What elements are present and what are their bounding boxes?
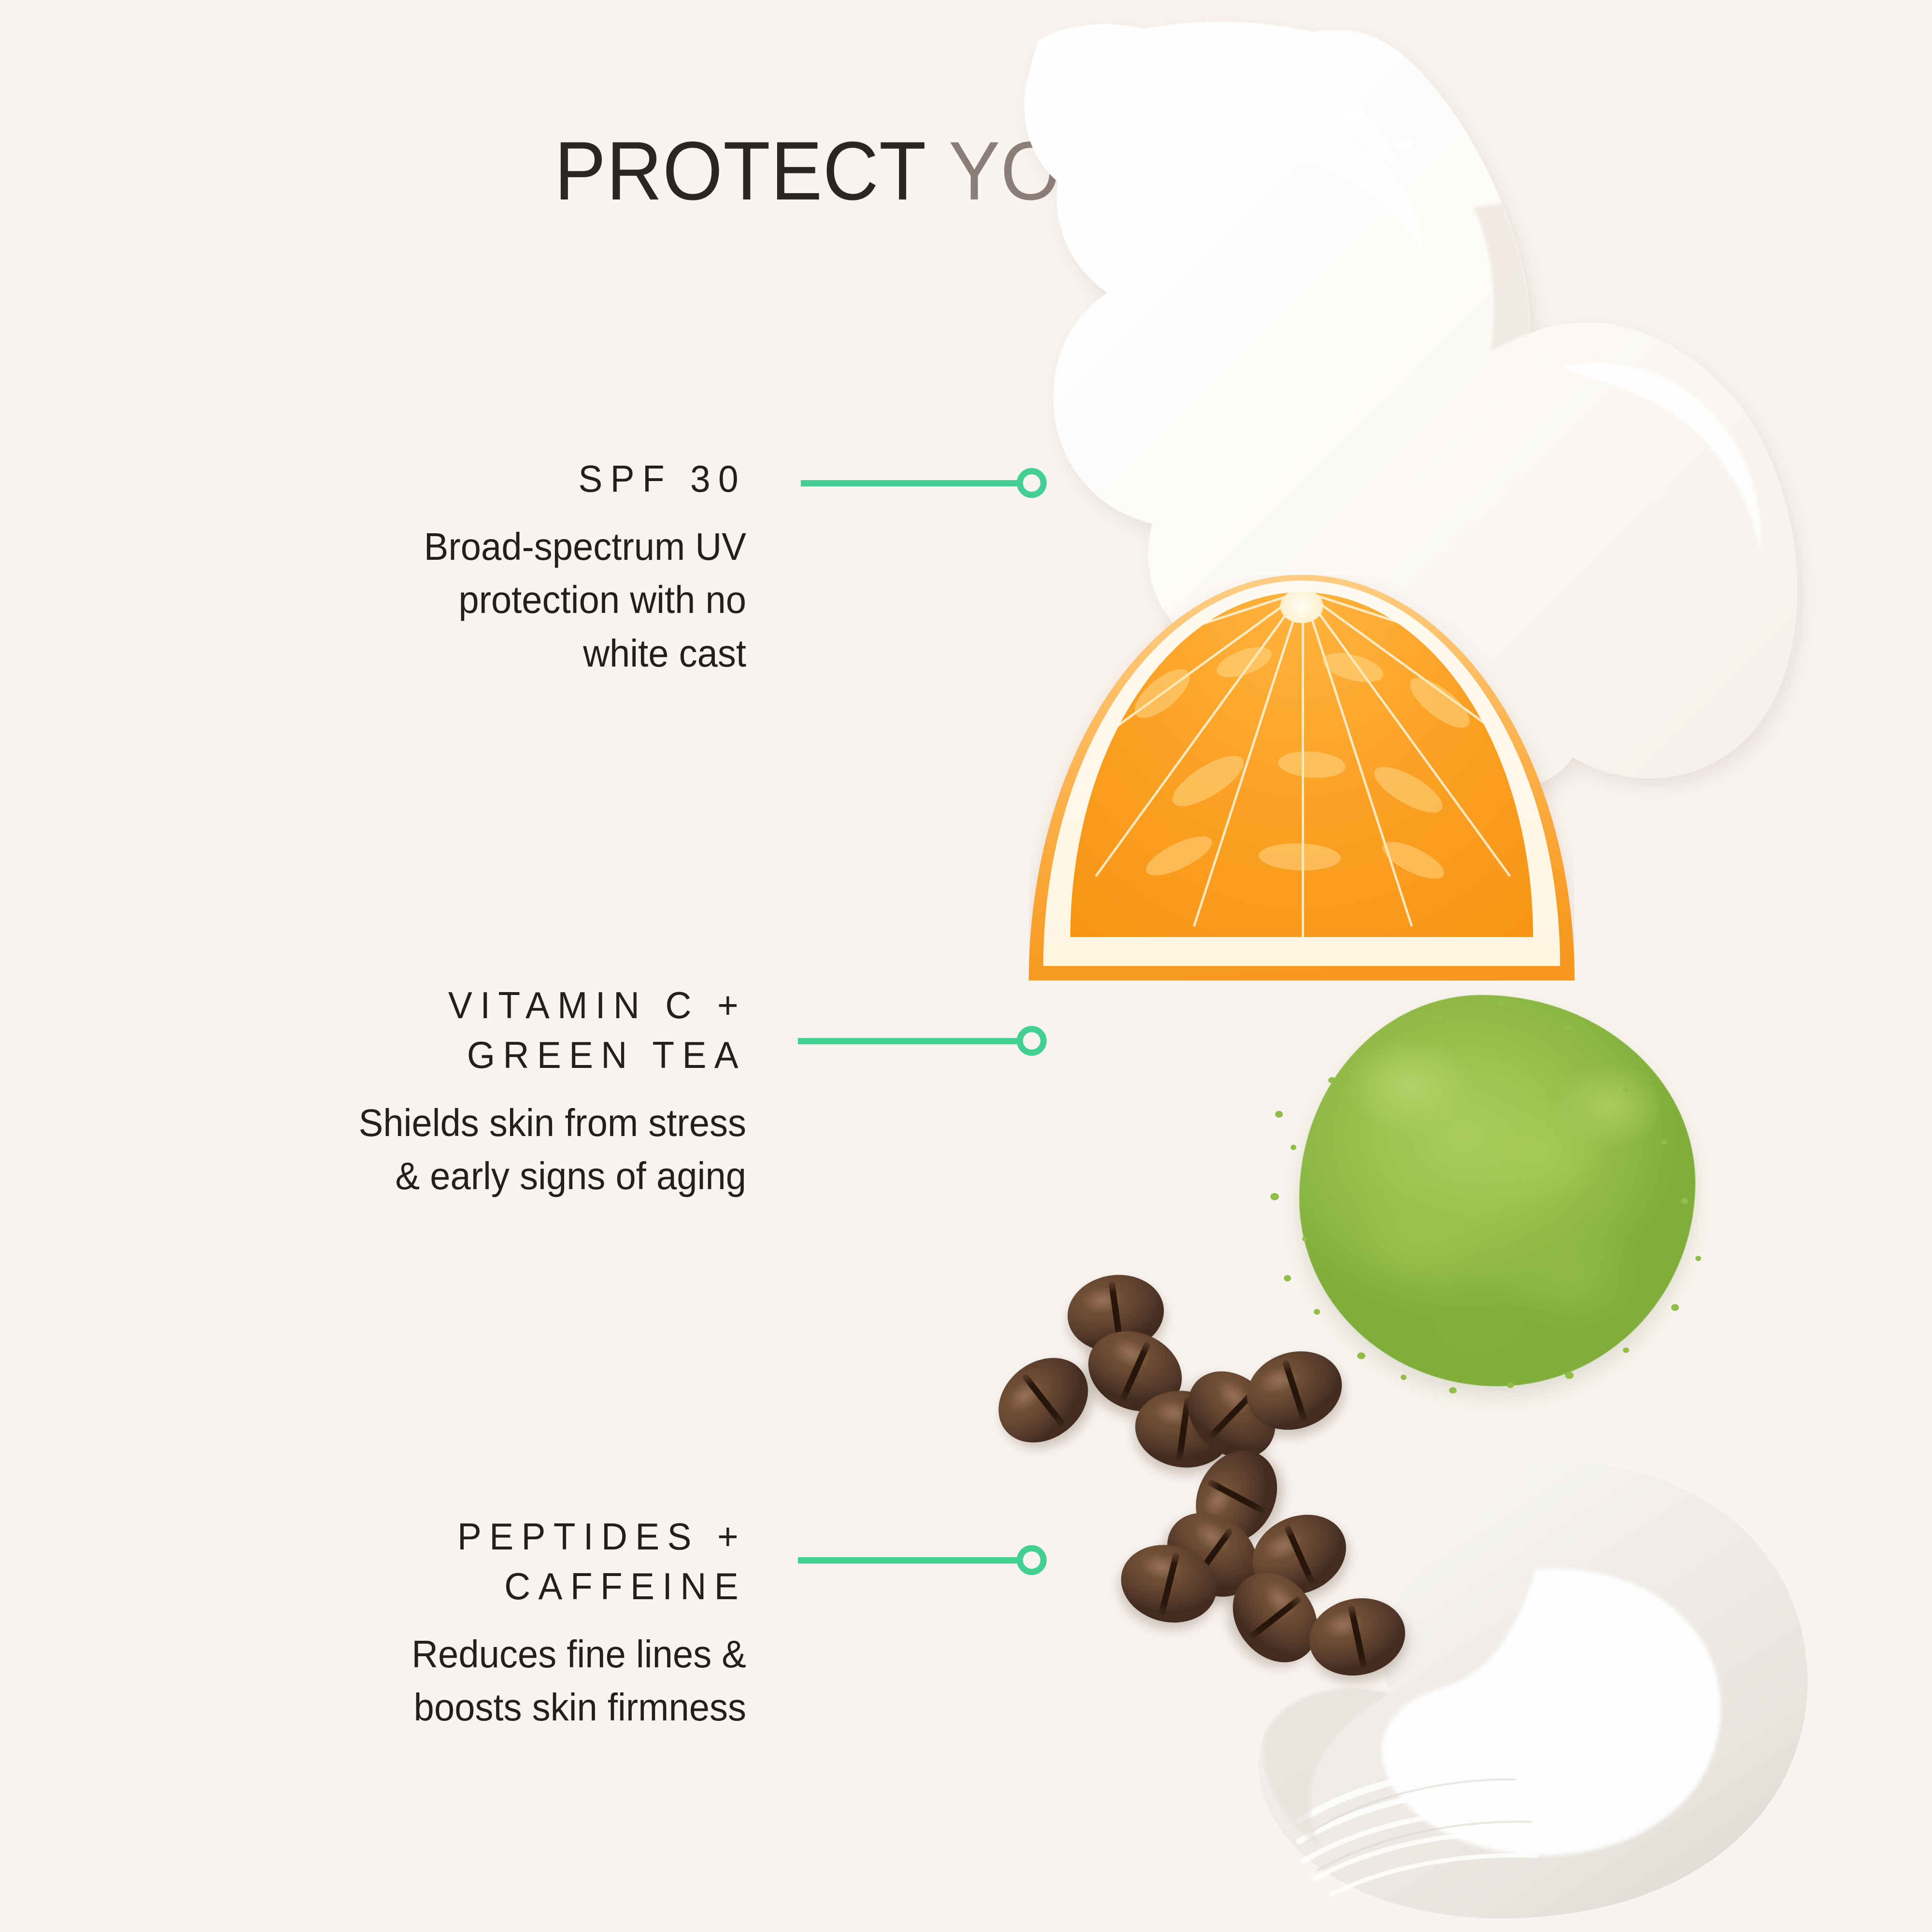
feature-heading-line: PEPTIDES + [167, 1512, 746, 1562]
feature-body-line: boosts skin firmness [173, 1681, 747, 1734]
feature-heading-line: CAFFEINE [167, 1562, 746, 1611]
product-imagery-stage [918, 0, 1932, 1932]
orange-slice-icon [1029, 575, 1575, 980]
connector-vitaminc-greentea [798, 1025, 1047, 1056]
infographic-canvas: PROTECT YOUR SKIN [0, 0, 1932, 1932]
feature-body-spf30: Broad-spectrum UV protection with no whi… [173, 520, 747, 680]
connector-line [798, 1557, 1018, 1563]
connector-dot [1017, 1545, 1047, 1575]
connector-peptides-caffeine [798, 1545, 1047, 1576]
feature-body-line: & early signs of aging [173, 1150, 747, 1203]
feature-body-peptides-caffeine: Reduces fine lines & boosts skin firmnes… [173, 1628, 747, 1734]
feature-body-line: Shields skin from stress [173, 1096, 747, 1150]
connector-dot [1017, 468, 1047, 498]
feature-block-vitaminc-greentea: VITAMIN C + GREEN TEA Shields skin from … [142, 980, 746, 1203]
coffee-beans-icon [976, 1265, 1439, 1652]
feature-body-line: Reduces fine lines & [173, 1628, 747, 1681]
connector-dot [1017, 1026, 1047, 1056]
feature-heading-line: VITAMIN C + [167, 980, 746, 1030]
feature-body-line: white cast [173, 627, 747, 680]
title-part-1: PROTECT [554, 125, 927, 217]
feature-heading-peptides-caffeine: PEPTIDES + CAFFEINE [167, 1512, 746, 1611]
connector-line [801, 480, 1018, 486]
feature-body-line: Broad-spectrum UV [173, 520, 747, 573]
feature-heading-line: GREEN TEA [167, 1030, 746, 1080]
feature-heading-vitaminc-greentea: VITAMIN C + GREEN TEA [167, 980, 746, 1080]
feature-body-vitaminc-greentea: Shields skin from stress & early signs o… [173, 1096, 747, 1203]
connector-line [798, 1038, 1018, 1044]
feature-body-line: protection with no [173, 573, 747, 626]
feature-block-spf30: SPF 30 Broad-spectrum UV protection with… [142, 454, 746, 680]
connector-spf30 [801, 468, 1047, 498]
feature-heading-spf30: SPF 30 [167, 454, 746, 504]
feature-block-peptides-caffeine: PEPTIDES + CAFFEINE Reduces fine lines &… [142, 1512, 746, 1734]
